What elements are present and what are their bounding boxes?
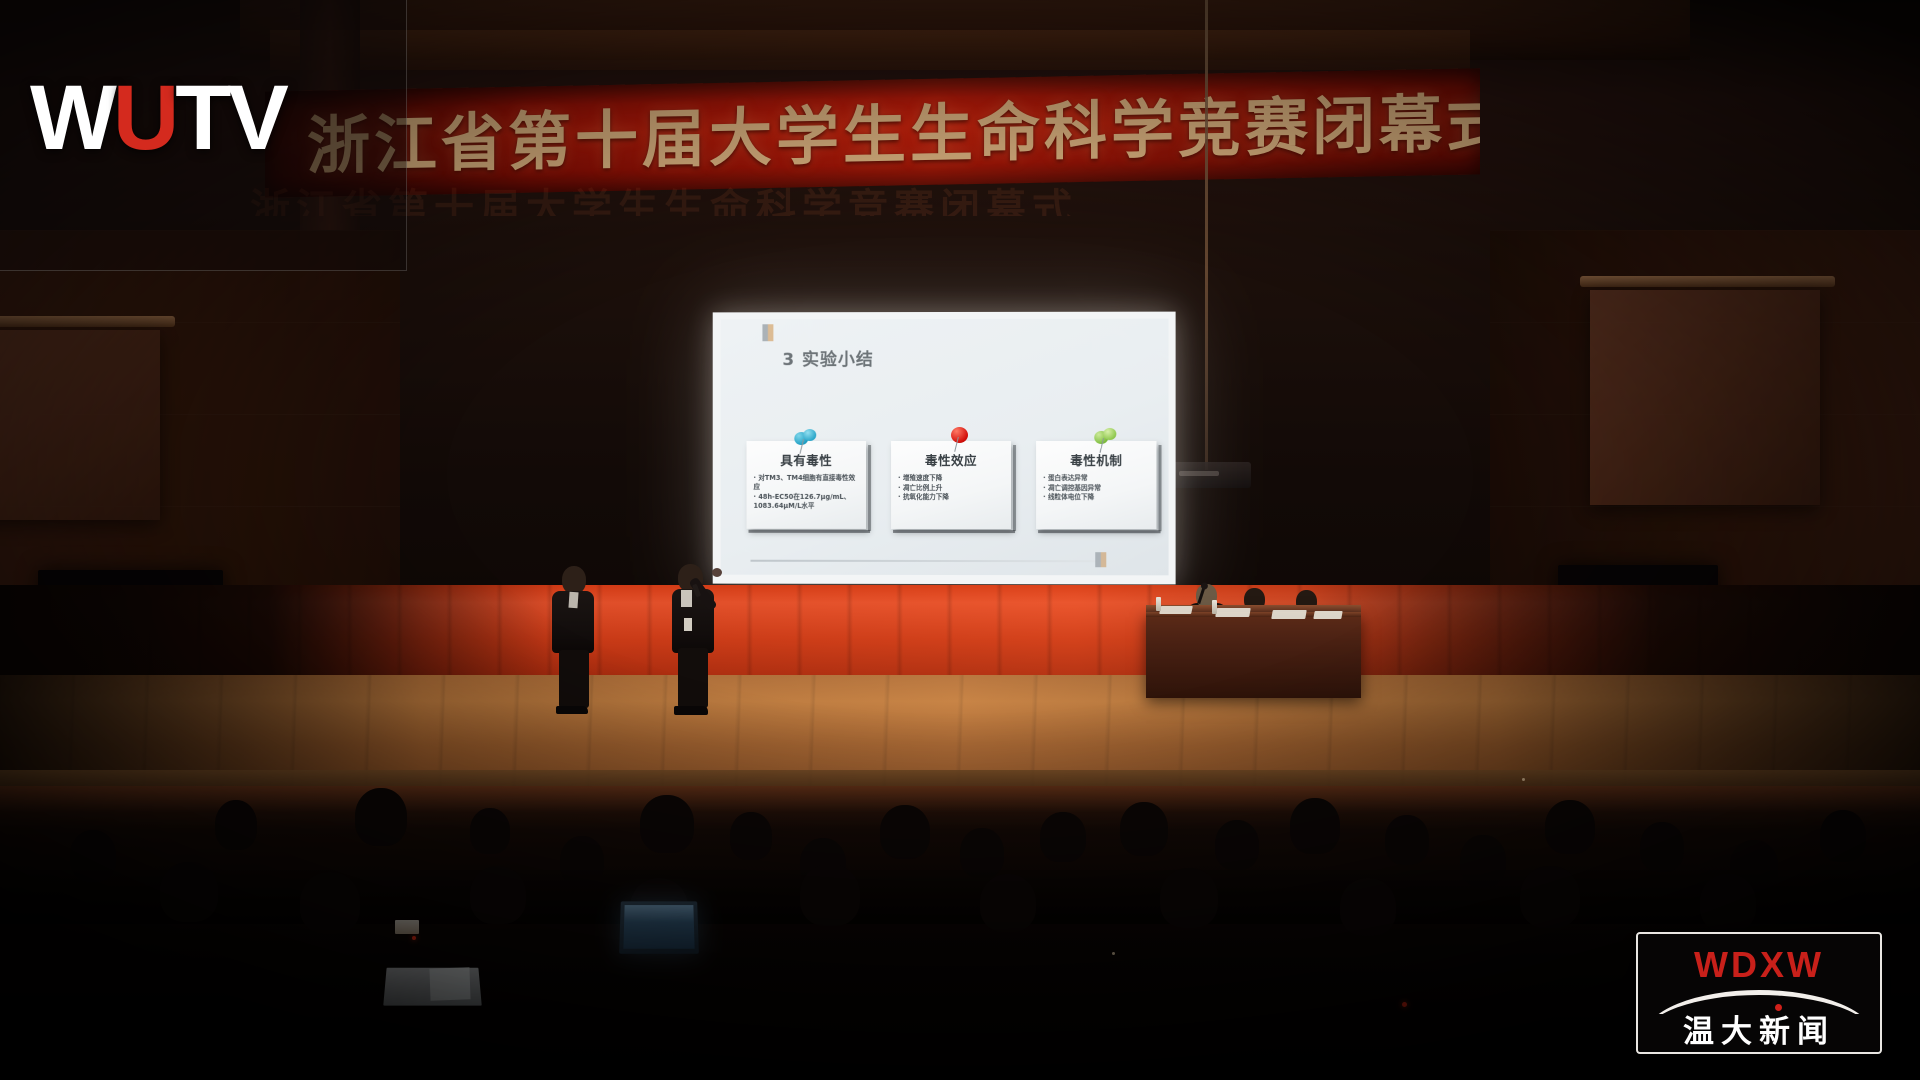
audience-head — [730, 812, 772, 860]
person-collar — [681, 590, 692, 607]
card-bullet: 凋亡调控基因异常 — [1043, 484, 1151, 493]
audience-head — [1160, 868, 1218, 928]
person-head — [562, 566, 586, 594]
card-bullet: 增殖速度下降 — [898, 474, 1006, 483]
card-bullet: 蛋白表达异常 — [1043, 474, 1151, 483]
audience-head — [880, 805, 930, 859]
hanging-cable — [1205, 0, 1208, 470]
slide-decor-tick-bottom — [1095, 552, 1106, 567]
wutv-letter-w: W — [30, 67, 113, 169]
card-bullet: 对TM3、TM4细胞有直接毒性效应 — [753, 474, 861, 492]
side-projection-screen-left — [0, 330, 160, 520]
audience-head — [1520, 866, 1580, 928]
audience-head — [1820, 810, 1866, 862]
ceiling-speaker-device — [1165, 462, 1251, 488]
slide-decor-tick-top — [762, 324, 773, 341]
screen-roller-right — [1580, 276, 1835, 287]
audience-head — [215, 800, 257, 850]
screen-roller-left — [0, 316, 175, 327]
card-bullet: 48h-EC50在126.7μg/mL、1083.64μM/L水平 — [753, 492, 861, 510]
wdxw-english-text: WDXW — [1638, 944, 1880, 986]
judges-table — [1146, 612, 1361, 698]
audience-head — [1545, 800, 1595, 854]
audience-head — [470, 808, 510, 854]
slide-card: 毒性机制 蛋白表达异常 凋亡调控基因异常 线粒体电位下降 — [1036, 441, 1156, 529]
audience-head — [800, 864, 860, 926]
wutv-letters-tv: TV — [175, 67, 285, 169]
audience-score-sheet — [429, 967, 470, 1000]
audience-head — [1290, 798, 1340, 854]
audience-head — [1340, 878, 1396, 936]
judge-paper — [1159, 606, 1193, 614]
water-bottle — [1156, 597, 1161, 611]
card-bullet: 抗氧化能力下降 — [898, 493, 1006, 502]
audience-head — [160, 862, 218, 922]
side-projection-screen-right — [1590, 290, 1820, 505]
audience-rim-light — [0, 786, 1920, 830]
audience-head — [1040, 812, 1086, 862]
broadcast-screenshot: 浙江省第十届大学生生命科学竞赛闭幕式 浙江省第十届大学生生命科学竞赛闭幕式 3 … — [0, 0, 1920, 1080]
audience-front-row-shadow — [0, 930, 1920, 1080]
audience-laptop-screen — [619, 901, 699, 953]
person-shoes — [556, 706, 588, 714]
device-indicator-light — [412, 936, 416, 940]
ceiling-band-inner — [270, 30, 1470, 70]
audience-head — [1640, 822, 1684, 872]
card-bullets: 增殖速度下降 凋亡比例上升 抗氧化能力下降 — [898, 474, 1006, 503]
screen-cloth-right — [1590, 290, 1820, 505]
slide-title: 3 实验小结 — [782, 345, 873, 370]
slide-card-group: 具有毒性 对TM3、TM4细胞有直接毒性效应 48h-EC50在126.7μg/… — [747, 429, 1157, 534]
judge-paper — [1313, 611, 1342, 619]
audience-head — [300, 872, 360, 934]
camera-record-light — [1402, 1002, 1407, 1007]
main-projection-screen: 3 实验小结 具有毒性 对TM3、TM4细胞有直接毒性效应 48h-EC50在1… — [713, 312, 1176, 585]
stage-shadow-left — [0, 585, 560, 685]
water-bottle — [1212, 600, 1217, 614]
stage-shadow-right — [1300, 585, 1920, 685]
slide-canvas: 3 实验小结 具有毒性 对TM3、TM4细胞有直接毒性效应 48h-EC50在1… — [721, 319, 1169, 576]
wdxw-chinese-text: 温大新闻 — [1638, 1006, 1880, 1051]
screen-cloth-left — [0, 330, 160, 520]
audience-head — [1700, 874, 1756, 932]
ambient-light-point — [1522, 778, 1525, 781]
card-heading: 毒性效应 — [891, 450, 1011, 469]
card-bullet: 线粒体电位下降 — [1043, 493, 1151, 502]
wdxw-station-logo: WDXW 温大新闻 — [1636, 932, 1882, 1054]
person-legs — [559, 650, 589, 708]
ambient-light-point — [1112, 952, 1115, 955]
slide-card: 毒性效应 增殖速度下降 凋亡比例上升 抗氧化能力下降 — [891, 441, 1011, 529]
audience-head — [1215, 820, 1259, 870]
person-hand — [712, 568, 722, 577]
person-name-badge — [684, 618, 692, 631]
audience-head — [640, 795, 694, 853]
card-bullet: 凋亡比例上升 — [898, 483, 1006, 492]
person-collar — [568, 592, 578, 609]
wutv-letter-u: U — [113, 67, 175, 169]
judge-paper — [1271, 610, 1307, 619]
audience-head — [1120, 802, 1168, 856]
audience-row-shadow — [0, 870, 1920, 924]
card-heading: 毒性机制 — [1036, 450, 1156, 469]
card-bullets: 蛋白表达异常 凋亡调控基因异常 线粒体电位下降 — [1043, 474, 1151, 503]
person-legs — [678, 648, 708, 708]
audience-head — [980, 874, 1036, 932]
audience-head — [470, 866, 526, 924]
person-shoes — [674, 706, 708, 715]
slide-baseline-rule — [751, 560, 1096, 562]
card-heading: 具有毒性 — [747, 450, 867, 469]
judge-paper — [1215, 608, 1251, 617]
audience-phone-screen — [395, 920, 419, 934]
wutv-logo: WUTV — [30, 72, 285, 164]
card-bullets: 对TM3、TM4细胞有直接毒性效应 48h-EC50在126.7μg/mL、10… — [753, 474, 861, 511]
audience-head — [355, 788, 407, 846]
audience-head — [1385, 815, 1429, 865]
slide-card: 具有毒性 对TM3、TM4细胞有直接毒性效应 48h-EC50在126.7μg/… — [747, 441, 867, 529]
